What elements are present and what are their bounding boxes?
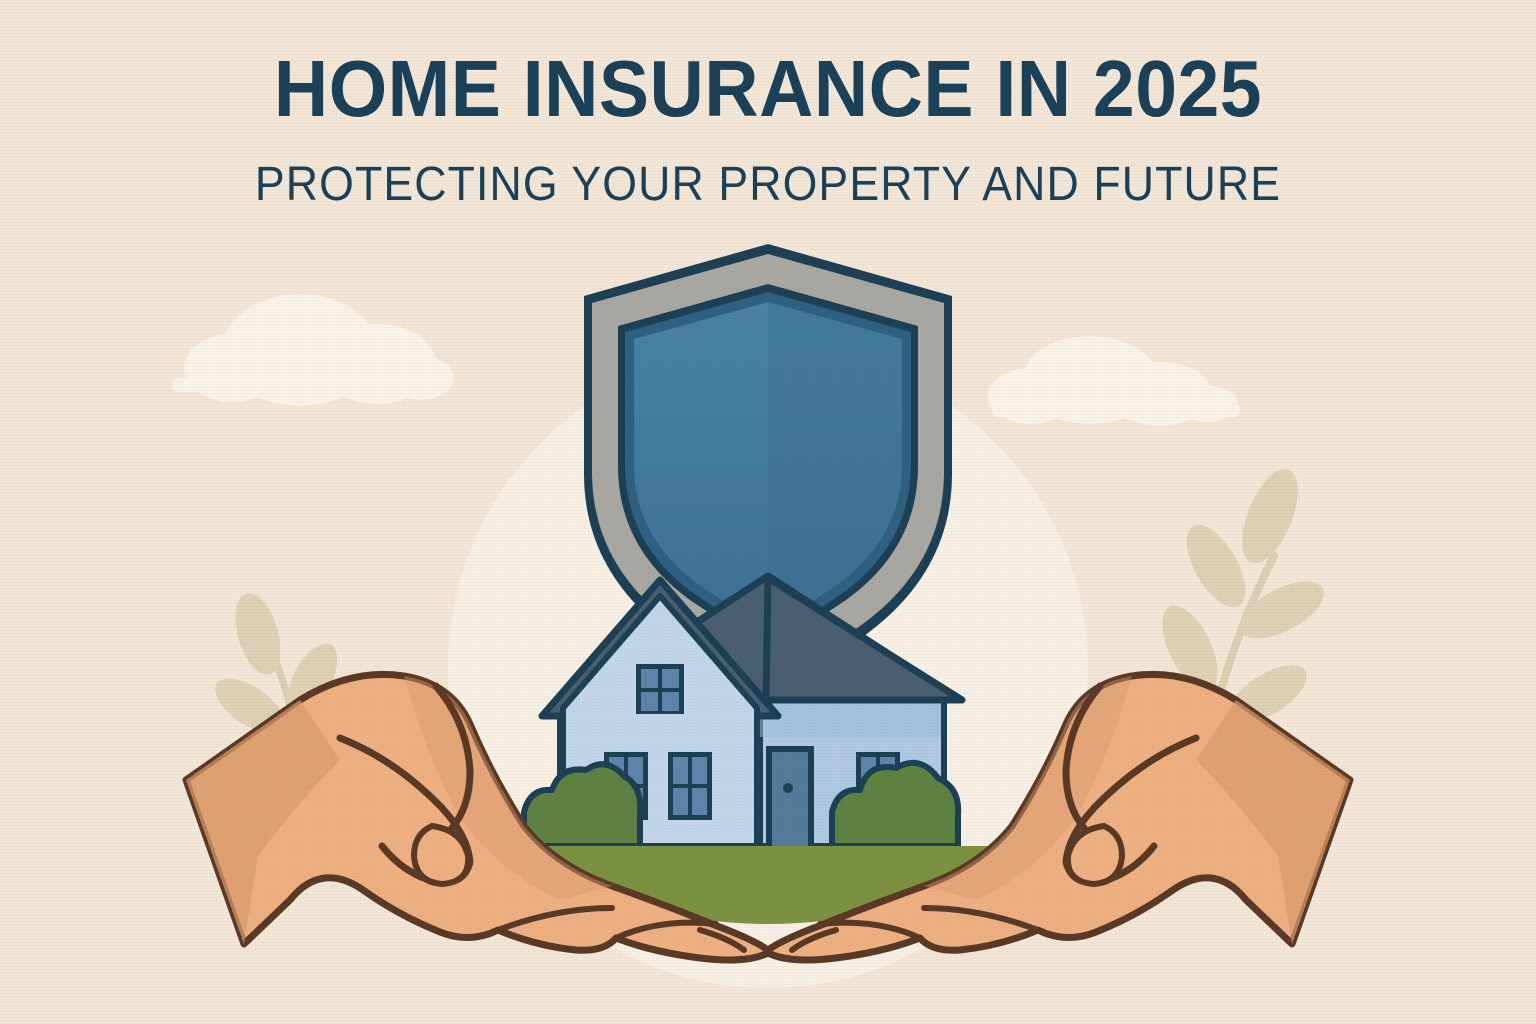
- door-knob: [783, 783, 793, 793]
- front-window-middle: [668, 752, 712, 820]
- poster-illustration: HOME INSURANCE IN 2025 PROTECTING YOUR P…: [0, 0, 1536, 1024]
- attic-window: [636, 664, 684, 714]
- front-door: [766, 746, 814, 846]
- illustration-canvas: [0, 0, 1536, 1024]
